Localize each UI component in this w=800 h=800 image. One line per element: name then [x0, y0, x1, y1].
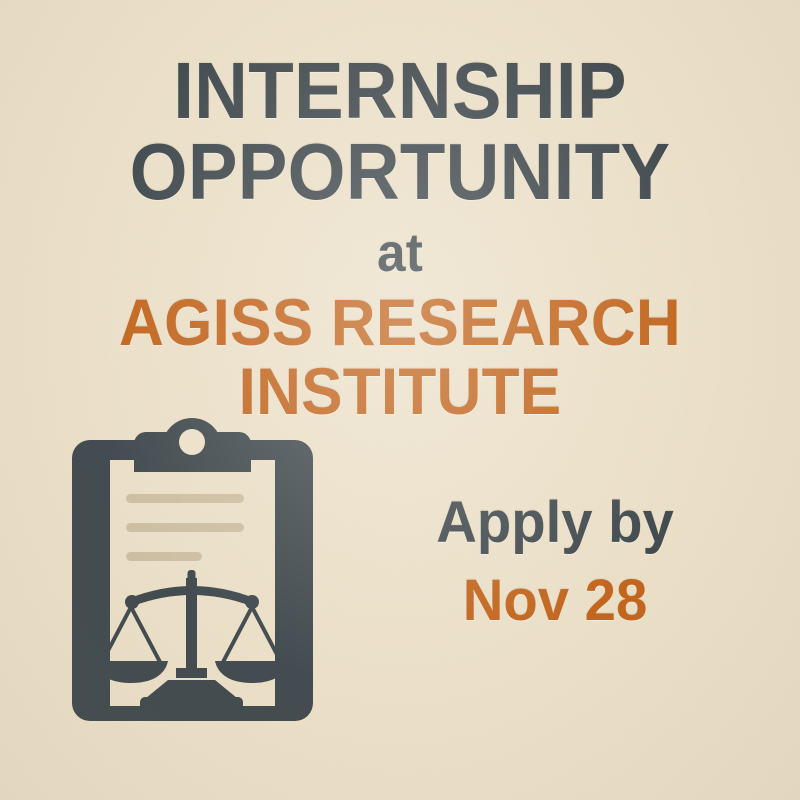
- clipboard-clip-hole: [179, 429, 205, 455]
- apply-by-label: Apply by: [346, 490, 763, 556]
- balance-scales: [94, 570, 289, 710]
- organization-line-1: AGISS RESEARCH: [24, 284, 776, 360]
- scales-base-taper: [146, 680, 237, 698]
- document-line-3: [126, 552, 202, 561]
- organization-text-agiss-research: AGISS RESEARCH: [24, 284, 776, 360]
- headline-text-at: at: [20, 222, 780, 284]
- scales-finial: [188, 570, 196, 582]
- headline-text-internship: INTERNSHIP: [28, 48, 772, 134]
- call-to-action-block: Apply by Nov 28: [340, 490, 770, 634]
- document-line-1: [126, 494, 244, 503]
- deadline-date: Nov 28: [346, 568, 763, 634]
- internship-poster: INTERNSHIP OPPORTUNITY at AGISS RESEARCH…: [0, 0, 800, 800]
- headline-line-internship: INTERNSHIP: [28, 48, 772, 134]
- scales-base-foot: [140, 697, 243, 710]
- headline-connector: at: [20, 222, 780, 284]
- scales-collar: [176, 668, 207, 678]
- headline-line-opportunity: OPPORTUNITY: [28, 129, 772, 215]
- document-lines: [126, 494, 244, 561]
- clipboard-scales-icon: [70, 418, 315, 738]
- headline-text-opportunity: OPPORTUNITY: [28, 129, 772, 215]
- document-line-2: [126, 523, 244, 532]
- scales-right-chains: [222, 607, 282, 664]
